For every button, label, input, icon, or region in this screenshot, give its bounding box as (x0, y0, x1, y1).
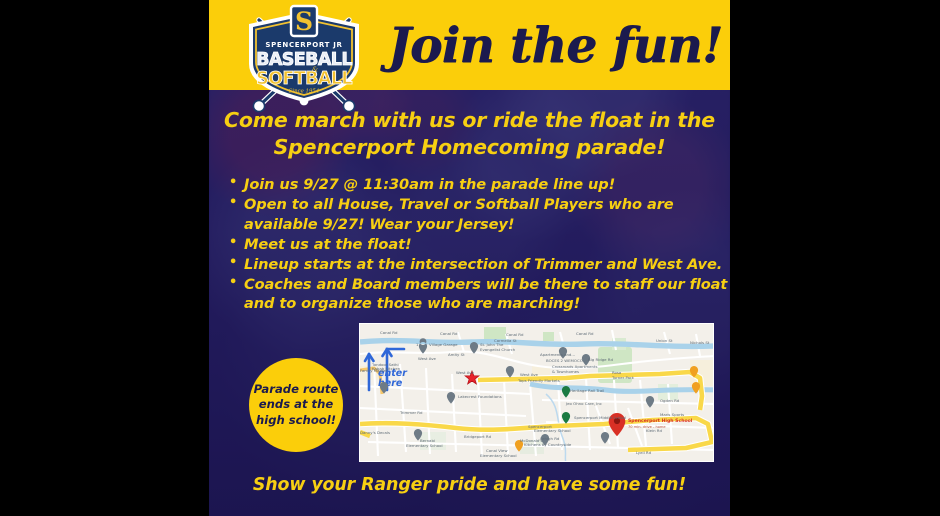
map-place-label: Elementary School (406, 443, 443, 448)
badge-line-2: ends at the (259, 397, 333, 413)
list-item: Open to all House, Travel or Softball Pl… (228, 195, 728, 234)
list-item: Meet us at the float! (228, 235, 728, 255)
parade-route-badge: Parade route ends at the high school! (249, 358, 343, 452)
flyer-body: Come march with us or ride the float in … (209, 90, 730, 516)
map-place-label: Spencerport Middle School (574, 415, 626, 420)
map-place-label: Canal Rd (440, 331, 458, 336)
map-place-label: Canal Rd (506, 332, 524, 337)
logo-monogram-s: S (295, 7, 313, 36)
map-place-label: Amity St (448, 352, 465, 357)
map-place-label: Canal Rd (380, 330, 398, 335)
map-place-label: Nichols St (690, 340, 710, 345)
map-place-label: Canal Rd (576, 331, 594, 336)
map-place-label: Kabab Kitchen (372, 366, 401, 371)
logo-text-baseball: BASEBALL (256, 50, 352, 70)
map-place-label: & Townhomes (552, 369, 579, 374)
details-bullet-list: Join us 9/27 @ 11:30am in the parade lin… (228, 175, 728, 314)
parade-route-map[interactable]: enter here (359, 323, 714, 462)
map-place-label: Lakecrest Foundations (458, 394, 502, 399)
logo-text-spencerport-jr: SPENCERPORT JR (265, 41, 342, 49)
closing-text: Show your Ranger pride and have some fun… (223, 475, 716, 495)
screenshot-canvas: S SPENCERPORT JR BASEBALL & SOFTBALL Sin… (0, 0, 940, 516)
logo-text-softball: SOFTBALL (256, 69, 352, 89)
badge-line-3: high school! (256, 413, 336, 429)
map-place-label: Maris Sports (660, 412, 684, 417)
map-place-label: Heritage Rail Trail (570, 388, 604, 393)
map-place-label: Big Ridge Rd (588, 357, 614, 362)
map-place-label: Ogden Rd (660, 398, 680, 403)
map-place-label: Turner Park (611, 375, 635, 380)
map-place-label: Carmella St (494, 338, 517, 343)
map-place-label: Evangelist Church (480, 347, 516, 352)
map-place-label: Jeo Ohno Care, Inc (565, 401, 602, 406)
headline-text: Come march with us or ride the float in … (223, 107, 716, 162)
list-item: Lineup starts at the intersection of Tri… (228, 255, 728, 275)
map-place-label: Trimmer Rd (399, 410, 423, 415)
map-highlight-sublabel: 70 min. drive - home (628, 425, 666, 429)
map-svg: enter here (360, 324, 714, 462)
map-place-label: Lehigh Rd (540, 436, 560, 441)
map-place-label: Kitchens by Countryside (524, 442, 572, 447)
map-place-label: Danny's Decals (360, 430, 390, 435)
letterbox-bar-left (0, 0, 209, 516)
map-place-label: Village Garage (429, 342, 458, 347)
map-place-label: Elementary School (480, 453, 517, 458)
map-place-label: Apartments and... (540, 352, 575, 357)
page-title: Join the fun! (385, 9, 725, 81)
letterbox-bar-right (730, 0, 940, 516)
map-place-label: Tops Friendly Markets (517, 378, 560, 383)
map-place-label: Union St (656, 338, 673, 343)
list-item: Coaches and Board members will be there … (228, 275, 728, 314)
map-place-label: BOCES 2 WEMOCO (546, 358, 583, 363)
map-place-label: Lyell Rd (636, 450, 652, 455)
flyer-panel: S SPENCERPORT JR BASEBALL & SOFTBALL Sin… (209, 0, 730, 516)
map-place-label: West Ave (456, 370, 475, 375)
list-item: Join us 9/27 @ 11:30am in the parade lin… (228, 175, 728, 195)
map-place-label: Bridgeport Rd (464, 434, 492, 439)
map-place-label: West Ave (520, 372, 539, 377)
map-highlight-label: Spencerport High School (628, 418, 693, 424)
map-place-label: West Ave (418, 356, 437, 361)
map-place-label: Elementary School (534, 428, 571, 433)
badge-line-1: Parade route (254, 382, 339, 398)
